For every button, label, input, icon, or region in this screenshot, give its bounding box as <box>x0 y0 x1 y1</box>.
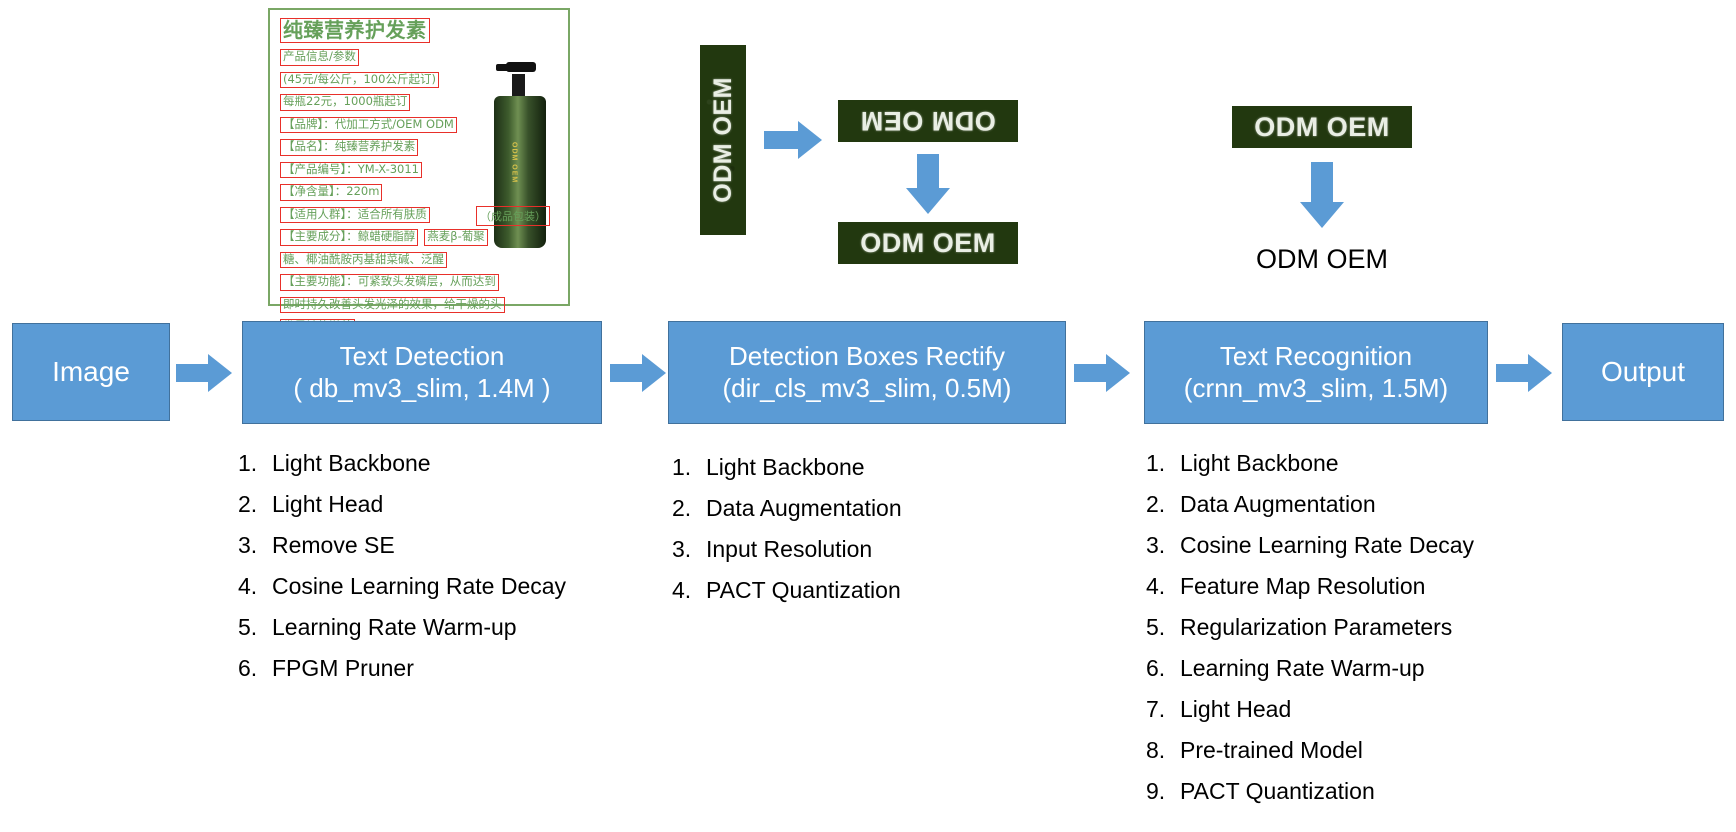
arrow-flipped-to-upright <box>906 154 950 214</box>
arrow-recognition-to-output <box>1496 354 1552 392</box>
list-item-label: PACT Quantization <box>1180 780 1375 803</box>
ocr-box-line: 【品牌】：代加工方式/OEM ODM <box>280 117 457 134</box>
list-item-number: 9. <box>1146 780 1180 803</box>
pipeline-box-text-detection[interactable]: Text Detection ( db_mv3_slim, 1.4M ) <box>242 321 602 424</box>
sample-image-card: 纯臻营养护发素 产品信息/参数 (45元/每公斤，100公斤起订) 每瓶22元，… <box>268 8 570 306</box>
text-recognition-feature-list: 1.Light Backbone 2.Data Augmentation 3.C… <box>1146 452 1474 821</box>
list-item-label: Input Resolution <box>706 538 872 561</box>
rectify-title: Detection Boxes Rectify <box>729 341 1005 373</box>
list-item-number: 3. <box>1146 534 1180 557</box>
ocr-box-line: 【适用人群】：适合所有肤质 <box>280 207 430 224</box>
pipeline-box-detection-boxes-rectify[interactable]: Detection Boxes Rectify (dir_cls_mv3_sli… <box>668 321 1066 424</box>
list-item: 1.Light Backbone <box>672 456 902 479</box>
crop-flipped: ODM OEM <box>838 100 1018 142</box>
list-item-number: 6. <box>238 657 272 680</box>
list-item-number: 2. <box>238 493 272 516</box>
bottle-pump-icon <box>506 62 536 72</box>
crop-upright: ODM OEM <box>838 222 1018 264</box>
pipeline-input-label: Image <box>52 355 130 389</box>
list-item-label: Cosine Learning Rate Decay <box>272 575 566 598</box>
crop-upright-text: ODM OEM <box>860 228 996 259</box>
list-item: 3.Remove SE <box>238 534 566 557</box>
arrow-detection-to-rectify <box>610 354 666 392</box>
list-item-number: 2. <box>1146 493 1180 516</box>
recognition-result-text: ODM OEM <box>1232 244 1412 275</box>
list-item-label: Remove SE <box>272 534 395 557</box>
list-item-label: PACT Quantization <box>706 579 901 602</box>
list-item-label: Light Head <box>272 493 383 516</box>
list-item-label: FPGM Pruner <box>272 657 414 680</box>
text-detection-feature-list: 1.Light Backbone 2.Light Head 3.Remove S… <box>238 452 566 698</box>
list-item-label: Light Head <box>1180 698 1291 721</box>
list-item-label: Feature Map Resolution <box>1180 575 1425 598</box>
ocr-box-line: 即时持久改善头发光泽的效果，给干燥的头 <box>280 297 505 314</box>
ocr-box-line: 每瓶22元，1000瓶起订 <box>280 94 410 111</box>
list-item: 9.PACT Quantization <box>1146 780 1474 803</box>
list-item-label: Learning Rate Warm-up <box>1180 657 1425 680</box>
list-item: 4.Feature Map Resolution <box>1146 575 1474 598</box>
list-item: 8.Pre-trained Model <box>1146 739 1474 762</box>
list-item-number: 3. <box>672 538 706 561</box>
text-detection-model: ( db_mv3_slim, 1.4M ) <box>293 373 550 405</box>
arrow-crop-to-flipped <box>764 121 822 159</box>
list-item-label: Data Augmentation <box>706 497 902 520</box>
list-item-label: Light Backbone <box>1180 452 1339 475</box>
list-item: 5.Learning Rate Warm-up <box>238 616 566 639</box>
pipeline-output-label: Output <box>1601 355 1685 389</box>
ocr-box-line: 【产品编号】：YM-X-3011 <box>280 162 422 179</box>
list-item-number: 4. <box>238 575 272 598</box>
list-item: 7.Light Head <box>1146 698 1474 721</box>
list-item: 4.PACT Quantization <box>672 579 902 602</box>
rectify-model: (dir_cls_mv3_slim, 0.5M) <box>723 373 1012 405</box>
ocr-box-line: 【主要成分】：鲸蜡硬脂醇 <box>280 229 418 246</box>
list-item-number: 5. <box>238 616 272 639</box>
arrow-rectify-to-recognition <box>1074 354 1130 392</box>
list-item-number: 3. <box>238 534 272 557</box>
text-recognition-title: Text Recognition <box>1220 341 1412 373</box>
crop-recognized-input: ODM OEM <box>1232 106 1412 148</box>
list-item: 3.Input Resolution <box>672 538 902 561</box>
list-item-label: Light Backbone <box>706 456 865 479</box>
list-item-number: 4. <box>1146 575 1180 598</box>
list-item-number: 7. <box>1146 698 1180 721</box>
list-item-number: 4. <box>672 579 706 602</box>
list-item: 6.Learning Rate Warm-up <box>1146 657 1474 680</box>
ocr-box-line: 产品信息/参数 <box>280 49 359 66</box>
list-item-number: 1. <box>1146 452 1180 475</box>
list-item: 2.Data Augmentation <box>1146 493 1474 516</box>
ocr-box-line: 糖、椰油酰胺丙基甜菜碱、泛醒 <box>280 252 447 269</box>
crop-vertical-text: ODM OEM <box>709 77 738 203</box>
rectify-feature-list: 1.Light Backbone 2.Data Augmentation 3.I… <box>672 456 902 620</box>
bottle-label-text: ODM OEM <box>506 138 522 188</box>
ocr-box-title: 纯臻营养护发素 <box>280 18 430 43</box>
ocr-box-line: 【净含量】：220m <box>280 184 382 201</box>
crop-recognized-input-text: ODM OEM <box>1254 112 1390 143</box>
list-item: 5.Regularization Parameters <box>1146 616 1474 639</box>
list-item: 4.Cosine Learning Rate Decay <box>238 575 566 598</box>
list-item-number: 1. <box>672 456 706 479</box>
list-item-number: 6. <box>1146 657 1180 680</box>
list-item: 2.Light Head <box>238 493 566 516</box>
ocr-box-line: 【主要功能】：可紧致头发磷层，从而达到 <box>280 274 499 291</box>
text-detection-title: Text Detection <box>340 341 505 373</box>
list-item-label: Regularization Parameters <box>1180 616 1452 639</box>
list-item-label: Data Augmentation <box>1180 493 1376 516</box>
diagram-canvas: 纯臻营养护发素 产品信息/参数 (45元/每公斤，100公斤起订) 每瓶22元，… <box>0 0 1736 832</box>
list-item-number: 1. <box>238 452 272 475</box>
list-item: 2.Data Augmentation <box>672 497 902 520</box>
list-item: 1.Light Backbone <box>1146 452 1474 475</box>
crop-vertical: ODM OEM <box>700 45 746 235</box>
list-item: 3.Cosine Learning Rate Decay <box>1146 534 1474 557</box>
list-item: 1.Light Backbone <box>238 452 566 475</box>
list-item: 6.FPGM Pruner <box>238 657 566 680</box>
list-item-label: Cosine Learning Rate Decay <box>1180 534 1474 557</box>
crop-flipped-text: ODM OEM <box>860 106 996 137</box>
list-item-label: Pre-trained Model <box>1180 739 1363 762</box>
text-recognition-model: (crnn_mv3_slim, 1.5M) <box>1184 373 1448 405</box>
pipeline-box-output[interactable]: Output <box>1562 323 1724 421</box>
list-item-number: 2. <box>672 497 706 520</box>
ocr-box-product-tag: （成品包装） <box>476 206 550 226</box>
ocr-box-line: 【品名】：纯臻营养护发素 <box>280 139 418 156</box>
list-item-number: 5. <box>1146 616 1180 639</box>
list-item-label: Learning Rate Warm-up <box>272 616 517 639</box>
list-item-label: Light Backbone <box>272 452 431 475</box>
ocr-box-line: (45元/每公斤，100公斤起订) <box>280 72 439 89</box>
arrow-crop-to-result <box>1300 162 1344 228</box>
ocr-box-line: 燕麦β-葡聚 <box>424 229 488 246</box>
list-item-number: 8. <box>1146 739 1180 762</box>
pipeline-box-input[interactable]: Image <box>12 323 170 421</box>
arrow-input-to-detection <box>176 354 232 392</box>
pipeline-box-text-recognition[interactable]: Text Recognition (crnn_mv3_slim, 1.5M) <box>1144 321 1488 424</box>
